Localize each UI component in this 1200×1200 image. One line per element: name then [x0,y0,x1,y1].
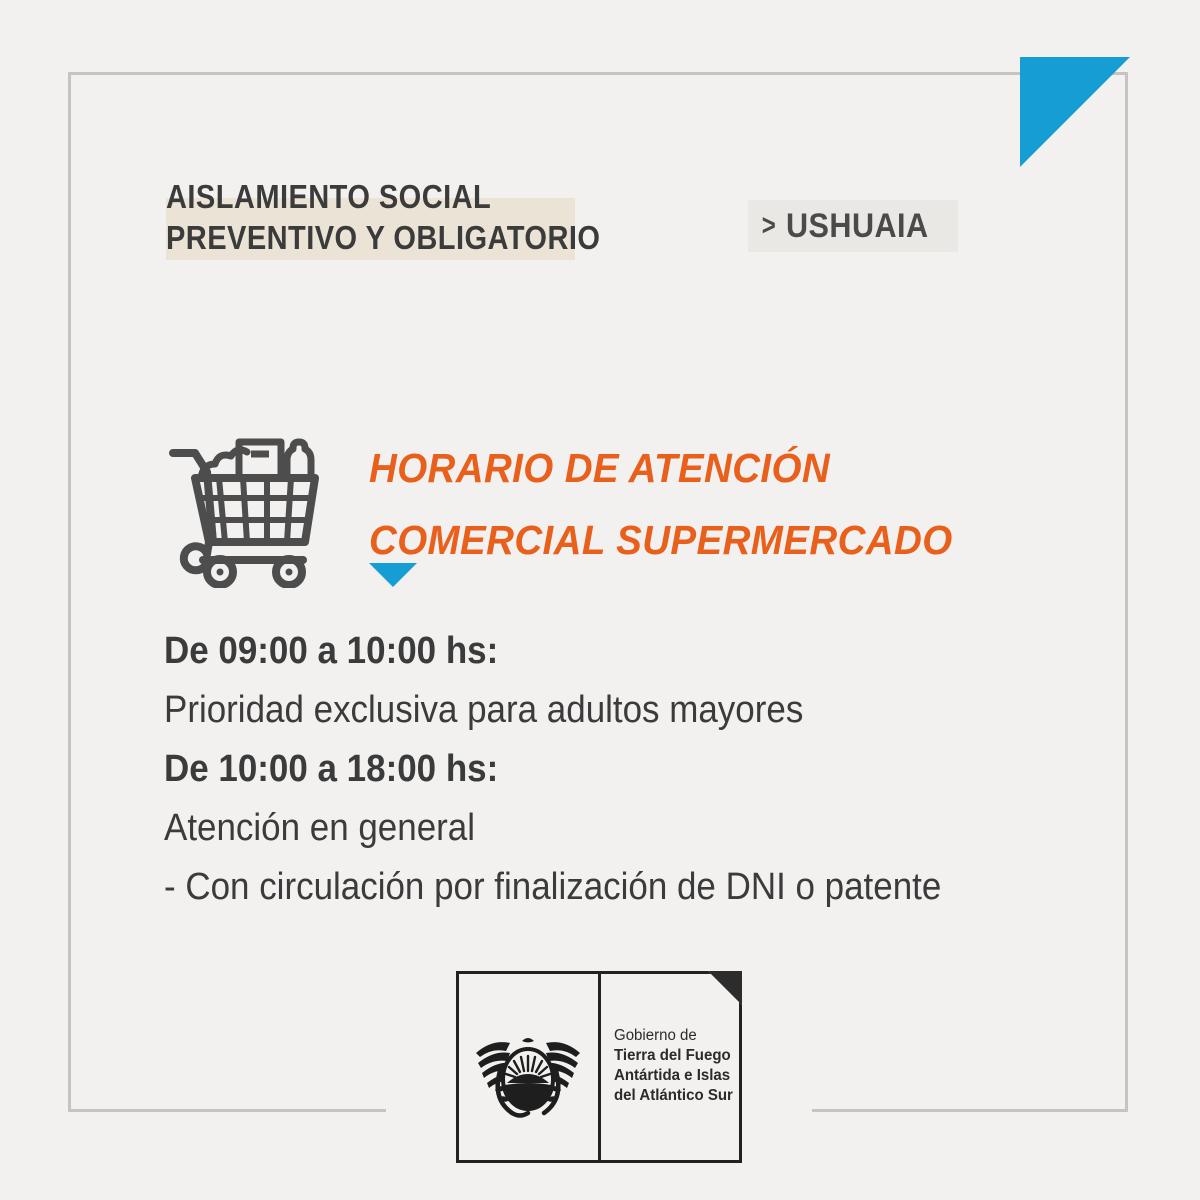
schedule-line-1: De 09:00 a 10:00 hs: [164,622,1010,681]
blue-down-triangle-icon [369,563,417,587]
frame-border-left [68,72,71,1112]
page-title: AISLAMIENTO SOCIAL PREVENTIVO Y OBLIGATO… [166,176,586,258]
location-badge: > USHUAIA [748,200,958,252]
logo-text: Gobierno de Tierra del Fuego Antártida e… [614,1026,736,1106]
headline-line-1: HORARIO DE ATENCIÓN [369,432,933,504]
title-line-2: PREVENTIVO Y OBLIGATORIO [166,217,536,258]
government-logo: Gobierno de Tierra del Fuego Antártida e… [456,971,742,1163]
schedule-line-4: Atención en general [164,799,1010,858]
frame-border-bottom-left [68,1109,386,1112]
location-label: USHUAIA [786,207,929,246]
chevron-right-icon: > [762,209,776,243]
logo-folded-corner-icon [708,971,742,1005]
logo-line-1: Gobierno de [614,1026,732,1046]
headline: HORARIO DE ATENCIÓN COMERCIAL SUPERMERCA… [369,432,969,576]
logo-divider [598,974,601,1160]
headline-line-2: COMERCIAL SUPERMERCADO [369,504,933,576]
logo-line-4: del Atlántico Sur [614,1086,732,1106]
schedule-list: De 09:00 a 10:00 hs: Prioridad exclusiva… [164,622,1084,917]
schedule-line-3: De 10:00 a 18:00 hs: [164,740,1010,799]
logo-line-2: Tierra del Fuego [614,1046,732,1066]
logo-line-3: Antártida e Islas [614,1066,732,1086]
blue-corner-triangle-icon [1020,57,1130,167]
schedule-line-2: Prioridad exclusiva para adultos mayores [164,681,1010,740]
frame-border-bottom-right [812,1109,1128,1112]
title-line-1: AISLAMIENTO SOCIAL [166,176,536,217]
poster-canvas: AISLAMIENTO SOCIAL PREVENTIVO Y OBLIGATO… [0,0,1200,1200]
frame-border-top [68,72,1128,75]
coat-of-arms-icon [474,1023,582,1119]
shopping-cart-icon [163,420,335,588]
frame-border-right [1125,72,1128,1112]
schedule-line-5: - Con circulación por finalización de DN… [164,858,1010,917]
